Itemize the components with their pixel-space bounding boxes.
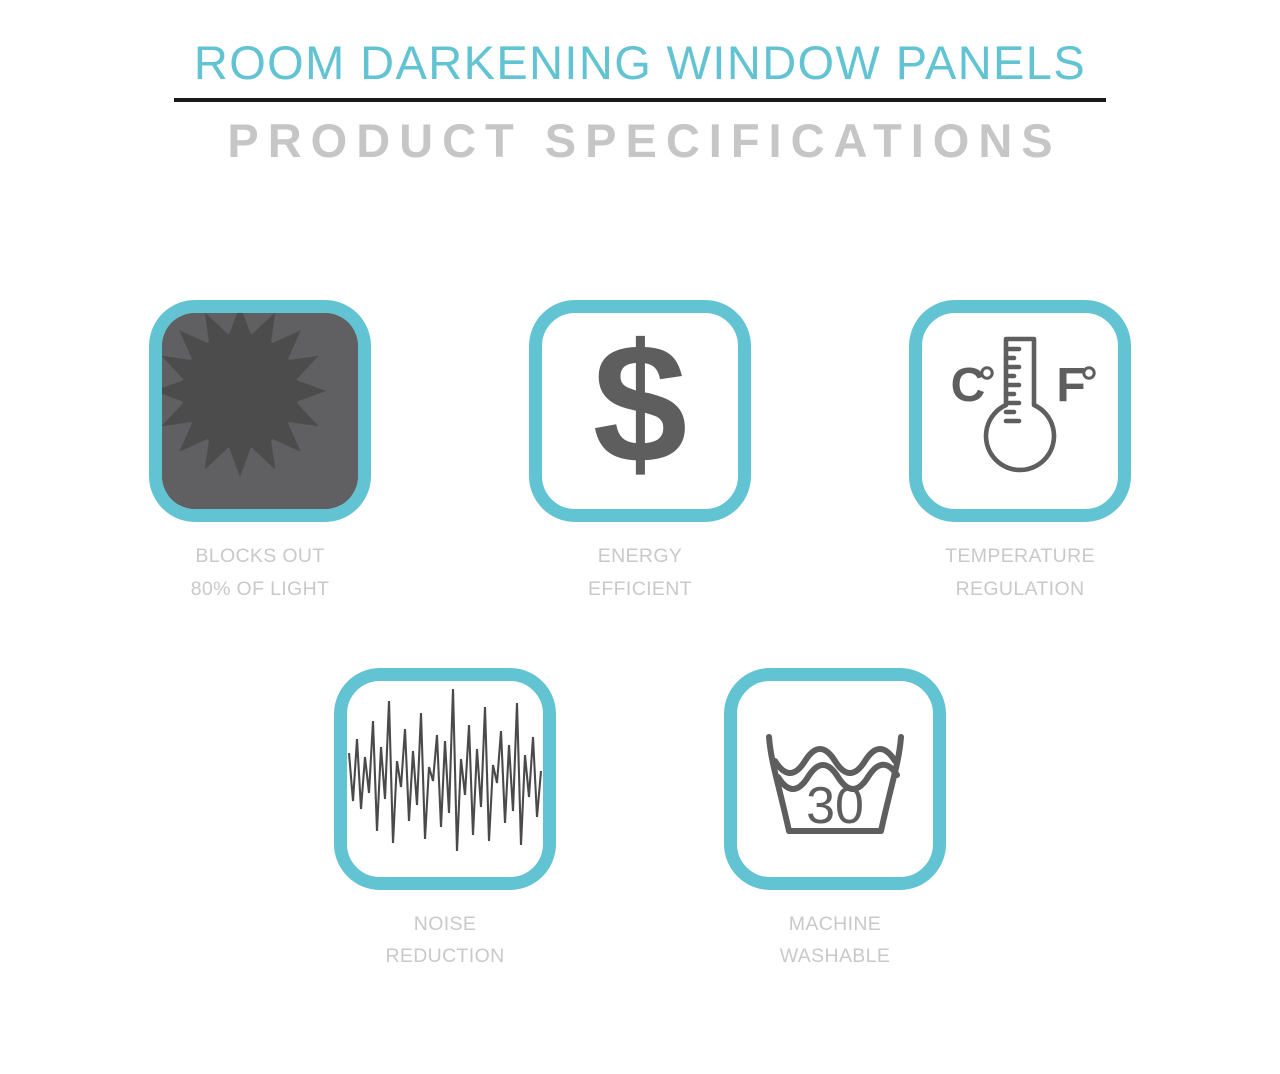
fahrenheit-label: F — [1056, 359, 1085, 412]
feature-caption: BLOCKS OUT 80% OF LIGHT — [191, 540, 330, 606]
caption-line-2: WASHABLE — [780, 940, 890, 973]
tile-artwork: $ — [542, 313, 738, 509]
feature-row-2: NOISE REDUCTION — [0, 668, 1280, 974]
feature-caption: NOISE REDUCTION — [385, 908, 504, 974]
page-header: ROOM DARKENING WINDOW PANELS PRODUCT SPE… — [0, 0, 1280, 171]
tile-artwork — [347, 681, 543, 877]
feature-tile — [334, 668, 556, 890]
caption-line-1: ENERGY — [588, 540, 692, 573]
feature-row-1: BLOCKS OUT 80% OF LIGHT $ ENERGY EFFICIE… — [0, 300, 1280, 606]
sound-waveform-icon — [347, 681, 543, 877]
feature-tile — [149, 300, 371, 522]
caption-line-2: REDUCTION — [385, 940, 504, 973]
caption-line-2: EFFICIENT — [588, 573, 692, 606]
dollar-sign-icon: $ — [542, 313, 738, 509]
infographic-page: ROOM DARKENING WINDOW PANELS PRODUCT SPE… — [0, 0, 1280, 1074]
title-divider — [174, 98, 1106, 102]
feature-tile: C F — [909, 300, 1131, 522]
wash-tub-icon: 30 — [737, 681, 933, 877]
caption-line-1: NOISE — [385, 908, 504, 941]
caption-line-2: 80% OF LIGHT — [191, 573, 330, 606]
svg-text:$: $ — [593, 313, 688, 499]
sun-blocked-icon — [162, 313, 358, 509]
thermometer-icon: C F — [922, 313, 1118, 509]
feature-machine-washable: 30 MACHINE WASHABLE — [710, 668, 960, 974]
feature-temperature-regulation: C F TEMPERATURE REGULATION — [895, 300, 1145, 606]
celsius-label: C — [951, 359, 986, 412]
caption-line-1: BLOCKS OUT — [191, 540, 330, 573]
page-subtitle: PRODUCT SPECIFICATIONS — [0, 110, 1280, 171]
caption-line-1: TEMPERATURE — [945, 540, 1095, 573]
tile-artwork: C F — [922, 313, 1118, 509]
caption-line-1: MACHINE — [780, 908, 890, 941]
feature-energy-efficient: $ ENERGY EFFICIENT — [515, 300, 765, 606]
page-title: ROOM DARKENING WINDOW PANELS — [0, 38, 1280, 89]
feature-tile: 30 — [724, 668, 946, 890]
feature-grid: BLOCKS OUT 80% OF LIGHT $ ENERGY EFFICIE… — [0, 300, 1280, 973]
feature-blocks-out-light: BLOCKS OUT 80% OF LIGHT — [135, 300, 385, 606]
caption-line-2: REGULATION — [945, 573, 1095, 606]
feature-caption: MACHINE WASHABLE — [780, 908, 890, 974]
feature-caption: ENERGY EFFICIENT — [588, 540, 692, 606]
wash-temperature-label: 30 — [806, 777, 864, 835]
feature-tile: $ — [529, 300, 751, 522]
feature-caption: TEMPERATURE REGULATION — [945, 540, 1095, 606]
tile-artwork — [162, 313, 358, 509]
feature-noise-reduction: NOISE REDUCTION — [320, 668, 570, 974]
tile-artwork: 30 — [737, 681, 933, 877]
